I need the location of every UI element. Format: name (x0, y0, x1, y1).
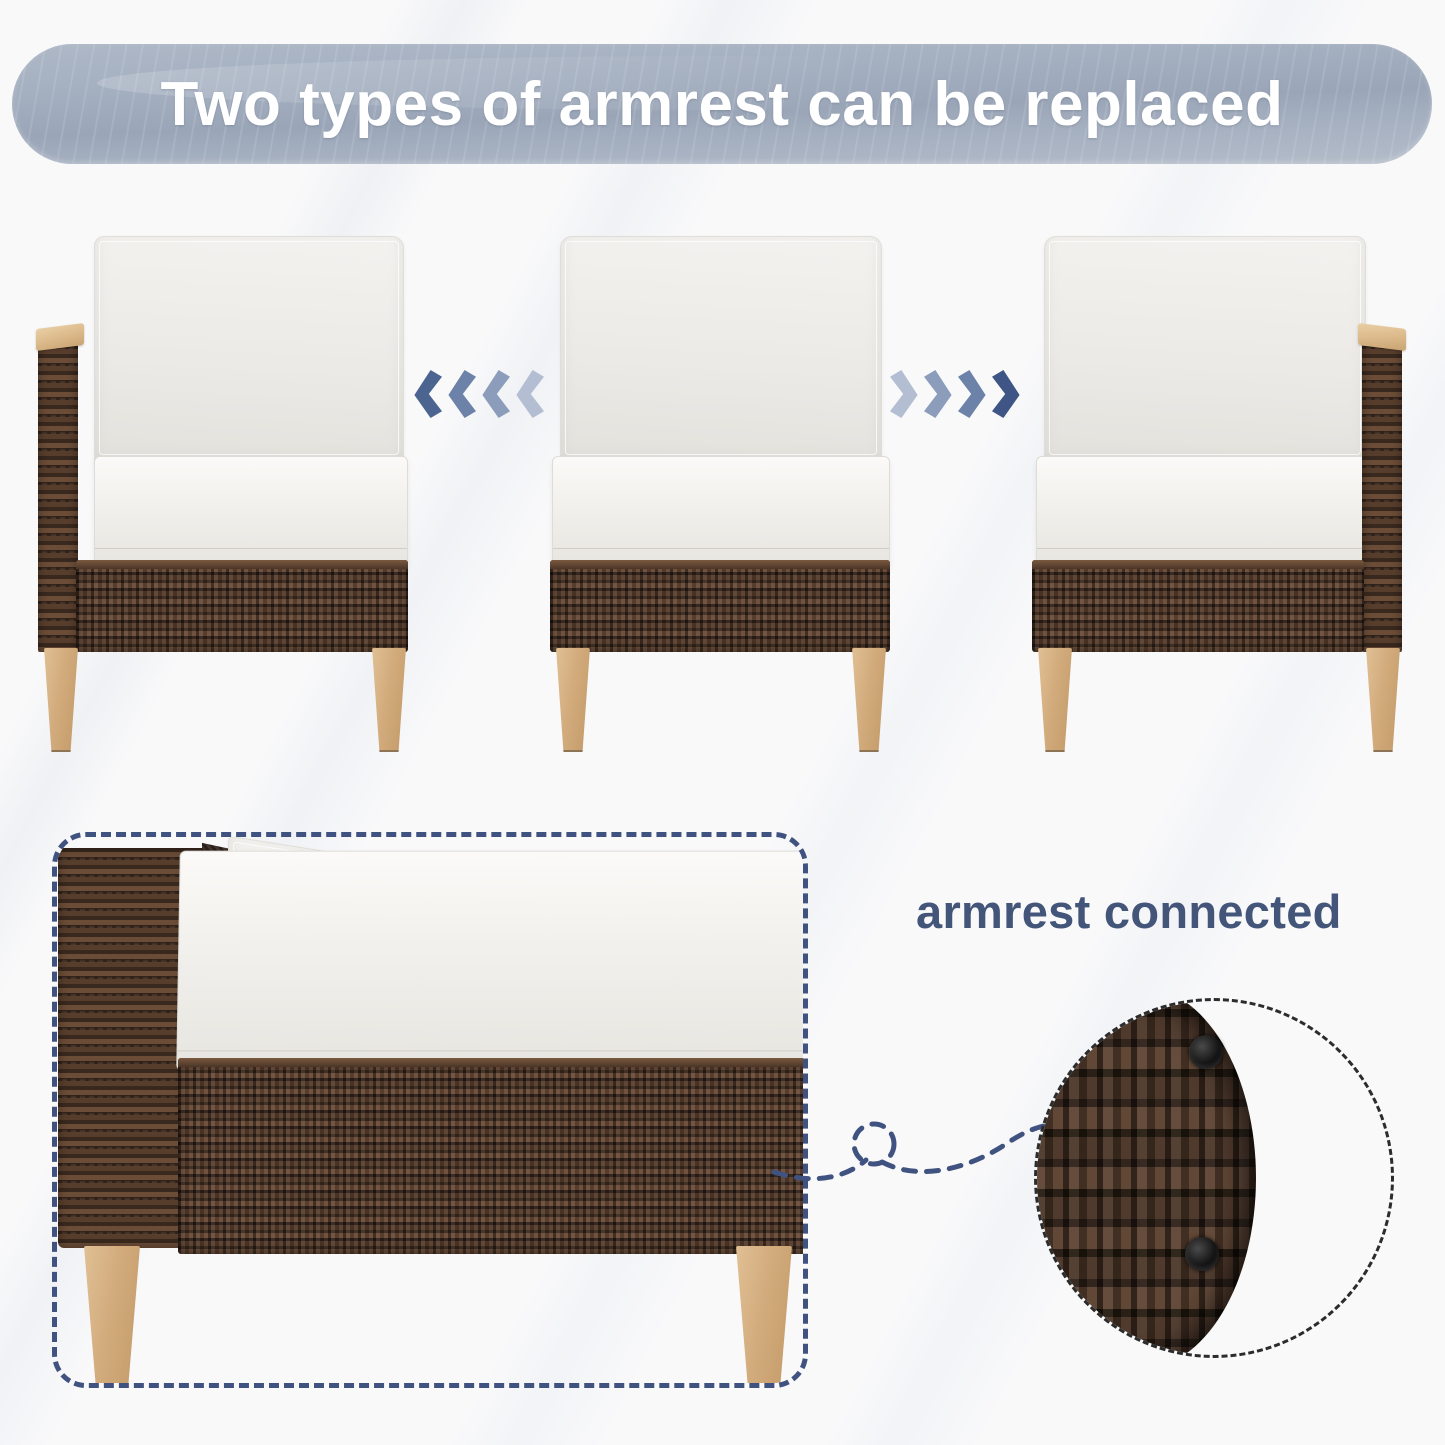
detail-caption: armrest connected (916, 884, 1342, 939)
zoom-wicker-weave (1034, 998, 1256, 1358)
wicker-top-rail (1032, 560, 1364, 569)
chevron-right-icon-3 (958, 370, 988, 418)
bolt-icon-top (1189, 1035, 1223, 1069)
leg-front-left (44, 648, 78, 752)
seat-cushion (1036, 456, 1368, 568)
wicker-top-rail (550, 560, 890, 569)
chevron-right-icon-1 (890, 370, 920, 418)
chevron-left-icon-3 (480, 370, 510, 418)
chair-comparison-row (0, 210, 1445, 770)
chair-right-armrest (1014, 230, 1414, 770)
leg-front-right (852, 648, 886, 752)
leg-front-right (1366, 648, 1400, 752)
wicker-base (76, 560, 408, 652)
chevron-right-icon-2 (924, 370, 954, 418)
armrest-left-panel (38, 340, 78, 652)
leg-front-left (556, 648, 590, 752)
arrow-group-right (890, 370, 1022, 418)
chair-armless (532, 230, 912, 770)
armrest-detail-callout-box (52, 832, 808, 1388)
wicker-top-rail (76, 560, 408, 569)
arrow-group-left (412, 370, 544, 418)
infographic-canvas: Two types of armrest can be replaced (0, 0, 1445, 1445)
detail-wicker-base (178, 1058, 808, 1254)
detail-wicker-top-rail (178, 1058, 808, 1067)
detail-seat-cushion (176, 851, 808, 1071)
bolt-icon-bottom (1185, 1237, 1219, 1271)
armrest-connection-zoom-circle (1034, 998, 1394, 1358)
back-cushion (560, 236, 882, 466)
leg-front-left (1038, 648, 1072, 752)
chair-left-armrest (32, 230, 422, 770)
header-banner: Two types of armrest can be replaced (12, 44, 1432, 164)
back-cushion (94, 236, 404, 466)
chevron-left-icon-2 (446, 370, 476, 418)
wicker-base (1032, 560, 1364, 652)
seat-cushion (552, 456, 890, 568)
detail-photo (52, 832, 808, 1388)
back-cushion (1044, 236, 1366, 466)
detail-leg-right (736, 1246, 792, 1388)
chevron-left-icon-1 (412, 370, 442, 418)
leg-front-right (372, 648, 406, 752)
detail-leg-left (84, 1246, 140, 1388)
wicker-base (550, 560, 890, 652)
armrest-right-panel (1362, 340, 1402, 652)
seat-cushion (94, 456, 408, 568)
page-title: Two types of armrest can be replaced (161, 69, 1284, 140)
